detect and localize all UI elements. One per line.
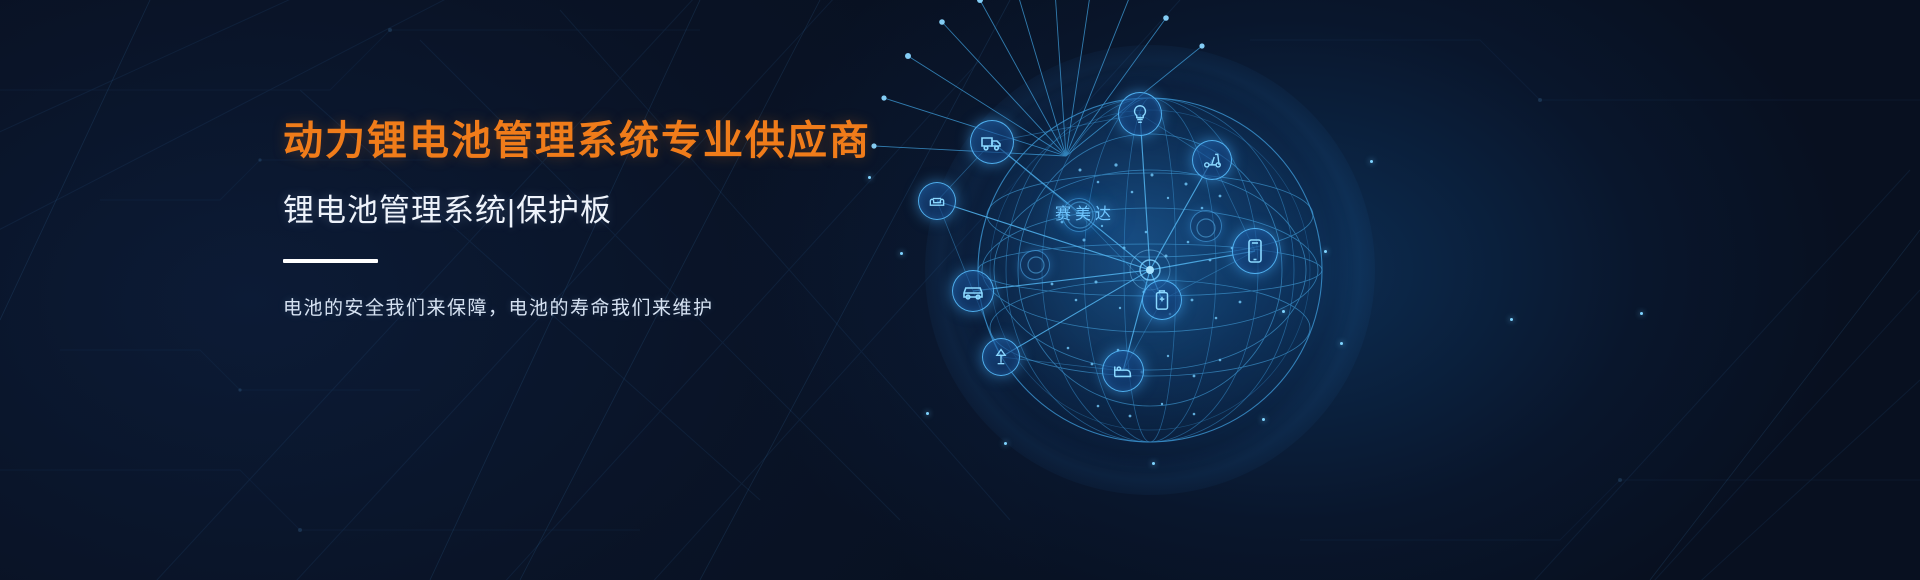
scooter-icon <box>1192 140 1232 180</box>
spark-particle <box>1004 442 1007 445</box>
spark-particle <box>926 412 929 415</box>
spark-particle-outer <box>1262 418 1265 421</box>
divider-rule <box>283 259 378 263</box>
spark-particle <box>1370 160 1373 163</box>
lamp-icon <box>982 338 1020 376</box>
banner-description: 电池的安全我们来保障，电池的寿命我们来维护 <box>283 293 1043 320</box>
spark-particle-outer <box>1510 318 1513 321</box>
spark-particle-outer <box>1152 462 1155 465</box>
spark-particle <box>1282 310 1285 313</box>
hero-banner: 动力锂电池管理系统专业供应商 锂电池管理系统|保护板 电池的安全我们来保障，电池… <box>0 0 1920 580</box>
phone-icon <box>1232 228 1278 274</box>
spark-particle-outer <box>1340 342 1343 345</box>
bed-icon <box>1102 350 1144 392</box>
banner-copy: 动力锂电池管理系统专业供应商 锂电池管理系统|保护板 电池的安全我们来保障，电池… <box>283 118 1043 320</box>
spark-particle <box>1324 250 1327 253</box>
battery-icon <box>1142 280 1182 320</box>
accent-ring-3 <box>1190 210 1222 242</box>
banner-subtitle: 锂电池管理系统|保护板 <box>283 192 1043 229</box>
spark-particle-outer <box>1640 312 1643 315</box>
lightbulb-icon <box>1118 92 1162 136</box>
banner-title: 动力锂电池管理系统专业供应商 <box>283 118 1043 164</box>
